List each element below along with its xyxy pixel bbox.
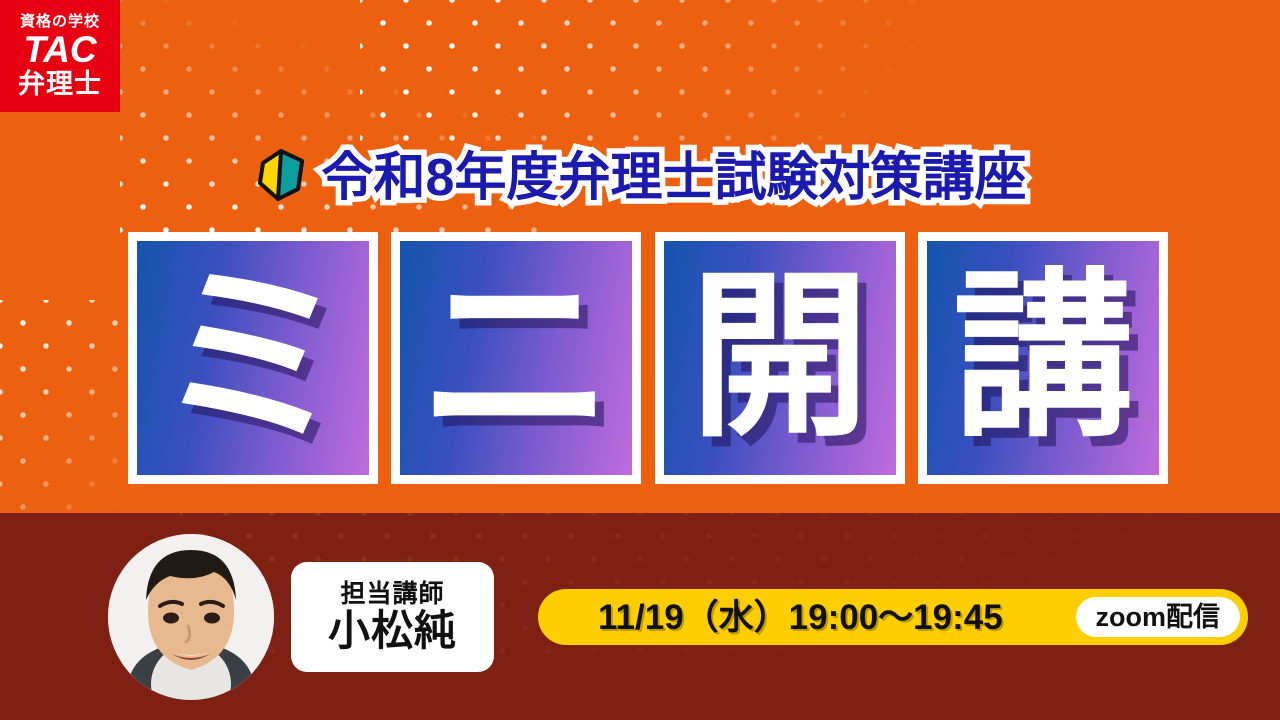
character-tiles: ミ ニ 開 講 [128,232,1168,484]
info-band: 担当講師 小松純 11/19（水）19:00〜19:45 zoom配信 [0,513,1280,720]
logo-tagline: 資格の学校 [20,14,100,29]
headline: 令和8年度弁理士試験対策講座 [0,142,1280,214]
tile-kou: 講 [918,232,1168,484]
instructor-badge: 担当講師 小松純 [291,562,494,672]
logo-wordmark: TAC [23,31,96,68]
delivery-method-badge: zoom配信 [1076,597,1241,637]
schedule-pill: 11/19（水）19:00〜19:45 zoom配信 [538,589,1248,645]
tile-kou-char: 講 [953,288,1133,428]
headline-text: 令和8年度弁理士試験対策講座 [322,152,1027,204]
logo-qualification: 弁理士 [18,70,102,98]
instructor-name: 小松純 [328,610,457,652]
tile-kai-char: 開 [690,288,870,428]
instructor-role-label: 担当講師 [340,582,444,607]
tile-mi-char: ミ [156,282,351,434]
tile-ni-inner: ニ [400,241,632,475]
instructor-avatar [108,534,274,700]
promotional-poster: 資格の学校 TAC 弁理士 令和8年度弁理士試験対策講座 ミ ニ 開 [0,0,1280,720]
tile-kai: 開 [655,232,905,484]
tile-ni-char: ニ [419,282,614,434]
instructor-portrait-illustration [108,534,274,700]
tile-ni: ニ [391,232,641,484]
tile-mi-inner: ミ [137,241,369,475]
tile-kou-inner: 講 [927,241,1159,475]
tac-logo: 資格の学校 TAC 弁理士 [0,0,120,112]
delivery-method-label: zoom配信 [1096,604,1221,631]
tile-kai-inner: 開 [664,241,896,475]
sprout-leaf-icon [254,145,310,203]
schedule-datetime: 11/19（水）19:00〜19:45 [598,600,1003,635]
tile-mi: ミ [128,232,378,484]
